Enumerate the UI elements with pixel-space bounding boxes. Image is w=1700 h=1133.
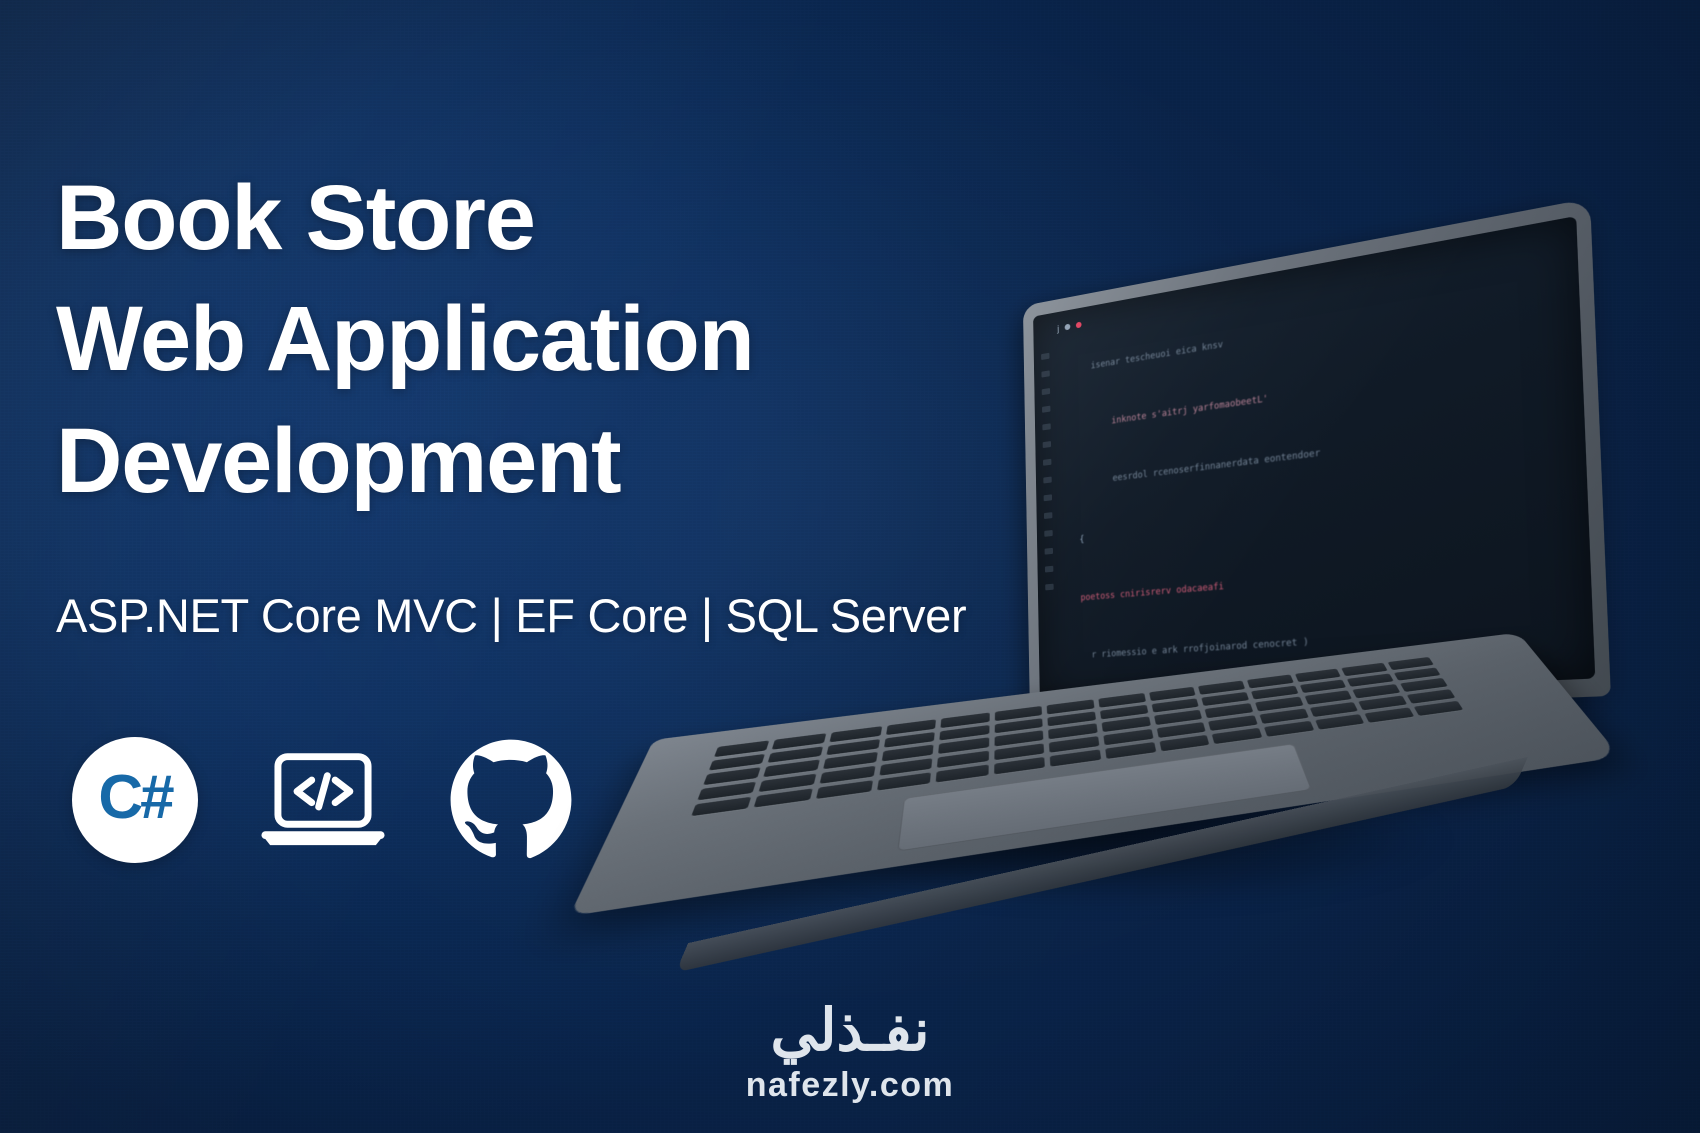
github-icon (448, 737, 574, 863)
tech-icon-row: C# (70, 735, 576, 865)
nafezly-logo-latin: nafezly.com (0, 1066, 1700, 1105)
csharp-icon-slot: C# (70, 735, 200, 865)
headline-line-1: Book Store (56, 158, 1016, 279)
nafezly-logo: نفـذلي nafezly.com (0, 1001, 1700, 1105)
github-icon-slot (446, 735, 576, 865)
csharp-icon: C# (72, 737, 198, 863)
code-laptop-icon-slot (258, 735, 388, 865)
nafezly-logo-arabic: نفـذلي (0, 1001, 1700, 1062)
laptop-screen: j isenar tescheuoi eica knsv inknote s'a… (1033, 216, 1595, 703)
editor-code: isenar tescheuoi eica knsv inknote s'ait… (1033, 216, 1595, 703)
promo-banner: Book Store Web Application Development A… (0, 0, 1700, 1133)
csharp-icon-label: C# (98, 767, 171, 829)
code-laptop-icon (258, 744, 388, 856)
laptop-illustration: j isenar tescheuoi eica knsv inknote s'a… (660, 290, 1590, 930)
